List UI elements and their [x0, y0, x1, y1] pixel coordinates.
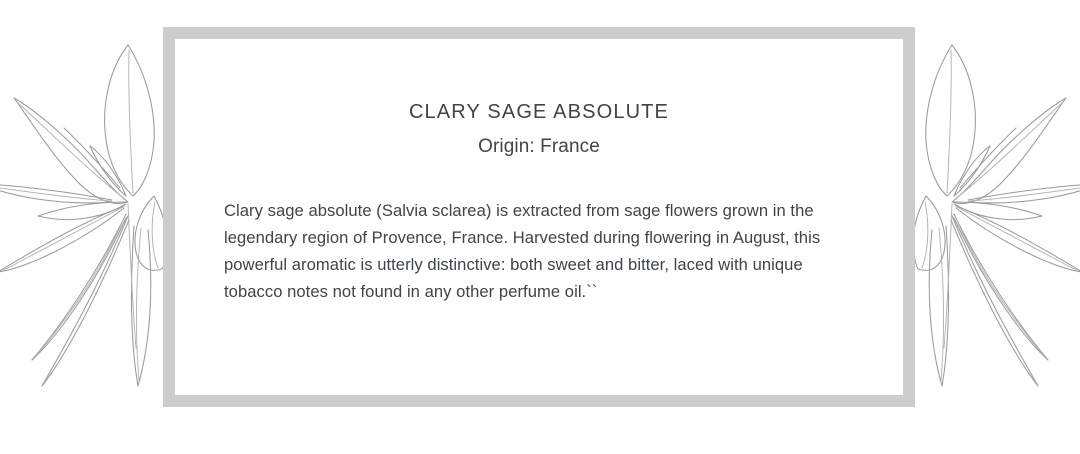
leaf-cluster-lower — [32, 204, 151, 386]
product-title: CLARY SAGE ABSOLUTE — [175, 101, 903, 124]
leaf-cluster-lower — [929, 204, 1048, 386]
botanical-leaf-illustration-right — [902, 0, 1080, 454]
product-description-card-page: CLARY SAGE ABSOLUTE Origin: France Clary… — [0, 0, 1080, 454]
leaf-branch-svg-left — [0, 0, 178, 454]
leaf-cluster-middle — [0, 184, 167, 272]
leaf-branch-svg-right — [902, 0, 1080, 454]
description-card-frame: CLARY SAGE ABSOLUTE Origin: France Clary… — [163, 27, 915, 407]
leaf-cluster-middle — [913, 184, 1080, 272]
product-description-text: Clary sage absolute (Salvia sclarea) is … — [224, 197, 824, 305]
botanical-leaf-illustration-left — [0, 0, 178, 454]
leaf-cluster-upper — [926, 45, 1066, 204]
description-card-inner: CLARY SAGE ABSOLUTE Origin: France Clary… — [175, 39, 903, 395]
leaf-cluster-upper — [14, 45, 154, 204]
product-origin: Origin: France — [175, 136, 903, 158]
